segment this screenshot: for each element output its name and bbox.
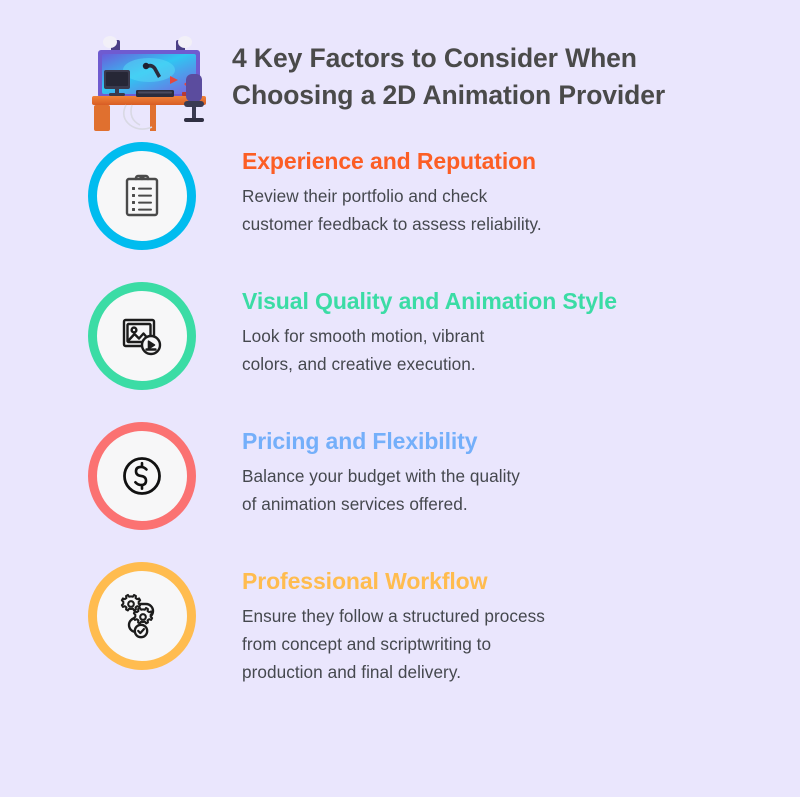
factor-text: Pricing and Flexibility Balance your bud… <box>242 422 776 519</box>
factors-list: Experience and Reputation Review their p… <box>0 120 800 687</box>
factor-description: Review their portfolio and check custome… <box>242 183 776 239</box>
factor-heading: Professional Workflow <box>242 568 776 594</box>
factor-heading: Pricing and Flexibility <box>242 428 776 454</box>
factor-heading: Visual Quality and Animation Style <box>242 288 776 314</box>
page-title-line-2: Choosing a 2D Animation Provider <box>232 77 760 114</box>
title-block: 4 Key Factors to Consider When Choosing … <box>232 24 760 113</box>
factor-row: Experience and Reputation Review their p… <box>0 142 800 258</box>
image-play-media-icon <box>88 282 196 390</box>
factor-text: Visual Quality and Animation Style Look … <box>242 282 776 379</box>
factor-description: Balance your budget with the quality of … <box>242 463 776 519</box>
factor-row: Pricing and Flexibility Balance your bud… <box>0 422 800 538</box>
dollar-coin-icon <box>88 422 196 530</box>
factor-description: Ensure they follow a structured process … <box>242 603 776 687</box>
factor-text: Experience and Reputation Review their p… <box>242 142 776 239</box>
factor-text: Professional Workflow Ensure they follow… <box>242 562 776 687</box>
page-title-line-1: 4 Key Factors to Consider When <box>232 40 760 77</box>
factor-row: Visual Quality and Animation Style Look … <box>0 282 800 398</box>
gears-workflow-checkmark-icon <box>88 562 196 670</box>
factor-description: Look for smooth motion, vibrant colors, … <box>242 323 776 379</box>
header: 4 Key Factors to Consider When Choosing … <box>0 0 800 120</box>
factor-row: Professional Workflow Ensure they follow… <box>0 562 800 687</box>
desk-workstation-illustration <box>88 30 210 138</box>
factor-heading: Experience and Reputation <box>242 148 776 174</box>
page-title: 4 Key Factors to Consider When Choosing … <box>232 40 760 113</box>
clipboard-checklist-icon <box>88 142 196 250</box>
